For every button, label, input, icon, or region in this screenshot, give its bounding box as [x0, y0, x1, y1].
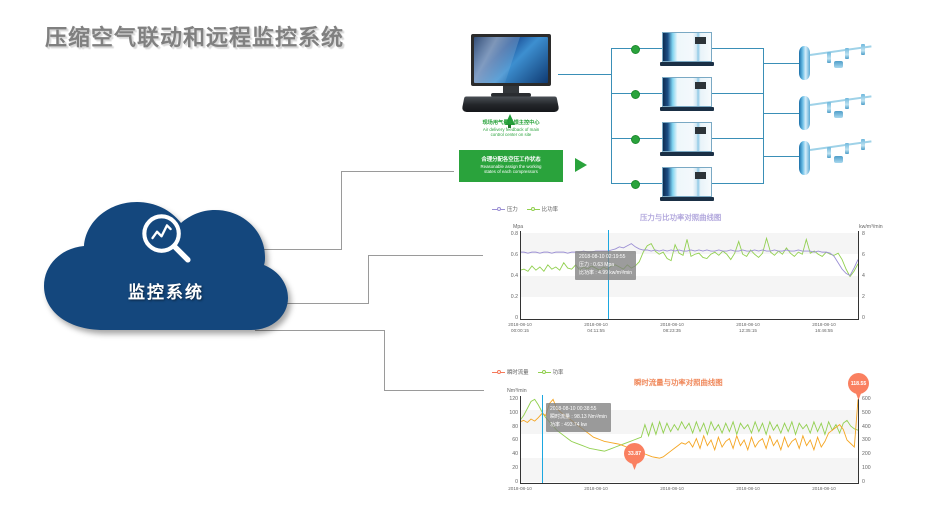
connector-mid-h2: [368, 255, 483, 256]
connector-bot-h2: [384, 390, 484, 391]
y-tick-label: 0.6: [494, 252, 518, 258]
x-tick-date: 2018-08-10: [584, 322, 608, 327]
wire-out-1: [712, 48, 764, 49]
y-tick-label: 0: [494, 315, 518, 321]
cloud-label: 监控系统: [42, 278, 290, 303]
flow-y-axis-line: [520, 396, 521, 484]
keyboard-icon: [461, 96, 559, 112]
x-tick-label: 2018-08-10: [644, 486, 700, 492]
connector-mid-v: [368, 255, 369, 304]
allocation-box-en2: states of each compressors: [459, 169, 563, 174]
max-value-marker[interactable]: 118.55: [848, 373, 869, 400]
x-tick-label: 2018-08-10: [720, 486, 776, 492]
legend-item-pressure[interactable]: 压力: [492, 205, 518, 213]
y-tick-label: 0.2: [494, 294, 518, 300]
wire-to-tank-1: [763, 63, 799, 64]
flow-chart-title: 瞬时流量与功率对照曲线图: [634, 377, 723, 388]
x-tick-label: 2018-08-10: [492, 486, 548, 492]
x-tick-label: 2018-08-10 12:35:15: [720, 322, 776, 333]
x-tick-time: 04:11:55: [587, 328, 605, 333]
legend-marker-icon: [492, 370, 505, 375]
y2-tick-label: 300: [862, 437, 871, 443]
compressor-unit: [662, 77, 712, 111]
compressor-foot: [660, 107, 714, 111]
x-tick-label: 2018-08-10 08:23:35: [644, 322, 700, 333]
compressor-foot: [660, 197, 714, 201]
flow-cursor-line[interactable]: [542, 395, 543, 484]
flow-y2-axis-line: [858, 396, 859, 484]
drop-line-icon: [861, 139, 865, 150]
pressure-y2-axis-unit: kw/m³/min: [859, 224, 883, 230]
air-tool-icon: [834, 111, 843, 118]
y-tick-label: 80: [492, 424, 518, 430]
x-tick-label: 2018-08-10 16:46:55: [796, 322, 852, 333]
legend-label: 比功率: [542, 205, 558, 213]
drop-line-icon: [827, 52, 831, 63]
y2-tick-label: 0: [862, 479, 865, 485]
x-tick-date: 2018-08-10: [508, 486, 532, 491]
feedback-note: 现场用气量反馈主控中心 Air delivery feedback of mai…: [461, 120, 561, 138]
feedback-note-en2: control center on site: [461, 132, 561, 138]
pin-ball-icon: 33.87: [624, 443, 645, 464]
y2-tick-label: 8: [862, 231, 865, 237]
node-dot-2: [631, 90, 640, 99]
chart-magnifier-icon: [138, 210, 196, 268]
compressor-unit: [662, 167, 712, 201]
legend-label: 功率: [553, 368, 564, 376]
connector-top-h2: [341, 171, 454, 172]
compressor-body: [662, 32, 712, 62]
legend-marker-icon: [527, 207, 540, 212]
wire-monitor-to-bus: [558, 74, 611, 75]
slide-root: 压缩空气联动和远程监控系统 监控系统: [0, 0, 945, 529]
x-tick-date: 2018-08-10: [584, 486, 608, 491]
tooltip-line-1: 瞬时流量 : 98.13 Nm³/min: [550, 414, 607, 422]
compressor-body: [662, 122, 712, 152]
right-arrow-icon: [575, 158, 587, 172]
legend-item-power[interactable]: 功率: [538, 368, 564, 376]
pressure-series-svg: [520, 233, 858, 318]
system-topology-diagram: 现场用气量反馈主控中心 Air delivery feedback of mai…: [455, 28, 935, 200]
x-tick-time: 16:46:55: [815, 328, 833, 333]
air-tank-icon: [799, 141, 810, 175]
y-tick-label: 0: [492, 479, 518, 485]
legend-label: 瞬时流量: [507, 368, 529, 376]
pressure-y2-axis-line: [858, 231, 859, 320]
x-tick-label: 2018-08-10 00:00:15: [492, 322, 548, 333]
tooltip-timestamp: 2018-08-10 02:19:55: [579, 254, 632, 262]
compressor-foot: [660, 152, 714, 156]
pressure-y-axis-unit: Mpa: [513, 224, 523, 230]
drop-line-icon: [827, 147, 831, 158]
x-tick-time: 08:23:35: [663, 328, 681, 333]
pressure-chart-legend[interactable]: 压力 比功率: [492, 205, 558, 213]
pressure-chart-tooltip: 2018-08-10 02:19:55 压力 : 0.63 Mpa 比功率 : …: [575, 251, 636, 280]
x-tick-date: 2018-08-10: [508, 322, 532, 327]
tooltip-line-2: 比功率 : 4.99 kw/m³/min: [579, 270, 632, 278]
compressor-panel: [695, 82, 706, 89]
compressor-body: [662, 167, 712, 197]
node-dot-3: [631, 135, 640, 144]
x-tick-date: 2018-08-10: [812, 322, 836, 327]
x-tick-time: 00:00:15: [511, 328, 529, 333]
monitor-neck: [503, 86, 519, 93]
wire-out-2: [712, 93, 764, 94]
air-tool-icon: [834, 156, 843, 163]
wire-out-3: [712, 138, 764, 139]
pressure-plot-area[interactable]: [520, 233, 858, 318]
tooltip-line-2: 功率 : 493.74 kw: [550, 422, 607, 430]
node-dot-1: [631, 45, 640, 54]
y2-tick-label: 200: [862, 451, 871, 457]
tooltip-timestamp: 2018-08-10 00:38:55: [550, 406, 607, 414]
wire-right-bus: [763, 48, 764, 183]
wire-to-tank-3: [763, 156, 799, 157]
y2-tick-label: 4: [862, 273, 865, 279]
node-dot-4: [631, 180, 640, 189]
y-tick-label: 60: [492, 437, 518, 443]
legend-label: 压力: [507, 205, 518, 213]
flow-chart-card: 瞬时流量 功率 瞬时流量与功率对照曲线图 Nm³/min 120 100 80 …: [484, 368, 896, 529]
drop-line-icon: [861, 94, 865, 105]
flow-y-axis-unit: Nm³/min: [507, 388, 527, 394]
compressor-panel: [695, 172, 706, 179]
min-value-marker[interactable]: 33.87: [624, 443, 645, 470]
min-marker-label: 33.87: [628, 451, 641, 457]
wire-out-4: [712, 183, 764, 184]
wire-to-tank-2: [763, 113, 799, 114]
compressor-unit: [662, 32, 712, 66]
y-tick-label: 40: [492, 451, 518, 457]
y-tick-label: 120: [492, 396, 518, 402]
air-tool-icon: [834, 61, 843, 68]
y2-tick-label: 400: [862, 424, 871, 430]
compressor-panel: [695, 127, 706, 134]
monitor-screen: [471, 34, 551, 86]
air-tank-icon: [799, 96, 810, 130]
x-tick-date: 2018-08-10: [812, 486, 836, 491]
y2-tick-label: 500: [862, 410, 871, 416]
compressor-panel: [695, 37, 706, 44]
monitor-glass: [474, 37, 548, 83]
x-tick-label: 2018-08-10 04:11:55: [568, 322, 624, 333]
max-marker-label: 118.55: [851, 381, 867, 387]
x-tick-label: 2018-08-10: [796, 486, 852, 492]
compressor-foot: [660, 62, 714, 66]
monitoring-cloud[interactable]: 监控系统: [42, 188, 290, 333]
x-tick-date: 2018-08-10: [736, 486, 760, 491]
pressure-chart-card: 压力 比功率 压力与比功率对照曲线图 Mpa kw/m³/min 0.8 0.6…: [484, 203, 896, 335]
y-tick-label: 0.8: [494, 231, 518, 237]
flow-chart-legend[interactable]: 瞬时流量 功率: [492, 368, 563, 376]
x-tick-date: 2018-08-10: [736, 322, 760, 327]
drop-line-icon: [845, 48, 849, 59]
pressure-chart-title: 压力与比功率对照曲线图: [640, 212, 721, 223]
desktop-monitor-icon: [463, 34, 558, 114]
y-tick-label: 100: [492, 410, 518, 416]
y2-tick-label: 2: [862, 294, 865, 300]
x-tick-date: 2018-08-10: [660, 486, 684, 491]
x-tick-date: 2018-08-10: [660, 322, 684, 327]
y-tick-label: 20: [492, 465, 518, 471]
compressor-body: [662, 77, 712, 107]
wire-left-bus: [611, 48, 612, 183]
drop-line-icon: [827, 102, 831, 113]
page-title: 压缩空气联动和远程监控系统: [45, 20, 344, 52]
pressure-y-axis-line: [520, 231, 521, 320]
compressor-unit: [662, 122, 712, 156]
flow-chart-tooltip: 2018-08-10 00:38:55 瞬时流量 : 98.13 Nm³/min…: [546, 403, 611, 432]
pin-ball-icon: 118.55: [848, 373, 869, 394]
flow-x-axis-line: [520, 483, 859, 484]
connector-top-v: [341, 171, 342, 250]
legend-item-flow[interactable]: 瞬时流量: [492, 368, 529, 376]
connector-bot-v: [384, 330, 385, 391]
drop-line-icon: [845, 143, 849, 154]
air-tank-icon: [799, 46, 810, 80]
drop-line-icon: [861, 44, 865, 55]
y2-tick-label: 6: [862, 252, 865, 258]
y2-tick-label: 0: [862, 315, 865, 321]
legend-marker-icon: [492, 207, 505, 212]
legend-item-specific-power[interactable]: 比功率: [527, 205, 558, 213]
legend-marker-icon: [538, 370, 551, 375]
y-tick-label: 0.4: [494, 273, 518, 279]
y2-tick-label: 100: [862, 465, 871, 471]
x-tick-label: 2018-08-10: [568, 486, 624, 492]
allocation-box: 合理分配各空压工作状态 Reasonable assign the workin…: [459, 150, 563, 182]
x-tick-time: 12:35:15: [739, 328, 757, 333]
tooltip-line-1: 压力 : 0.63 Mpa: [579, 262, 632, 270]
drop-line-icon: [845, 98, 849, 109]
pressure-x-axis-line: [520, 319, 859, 320]
